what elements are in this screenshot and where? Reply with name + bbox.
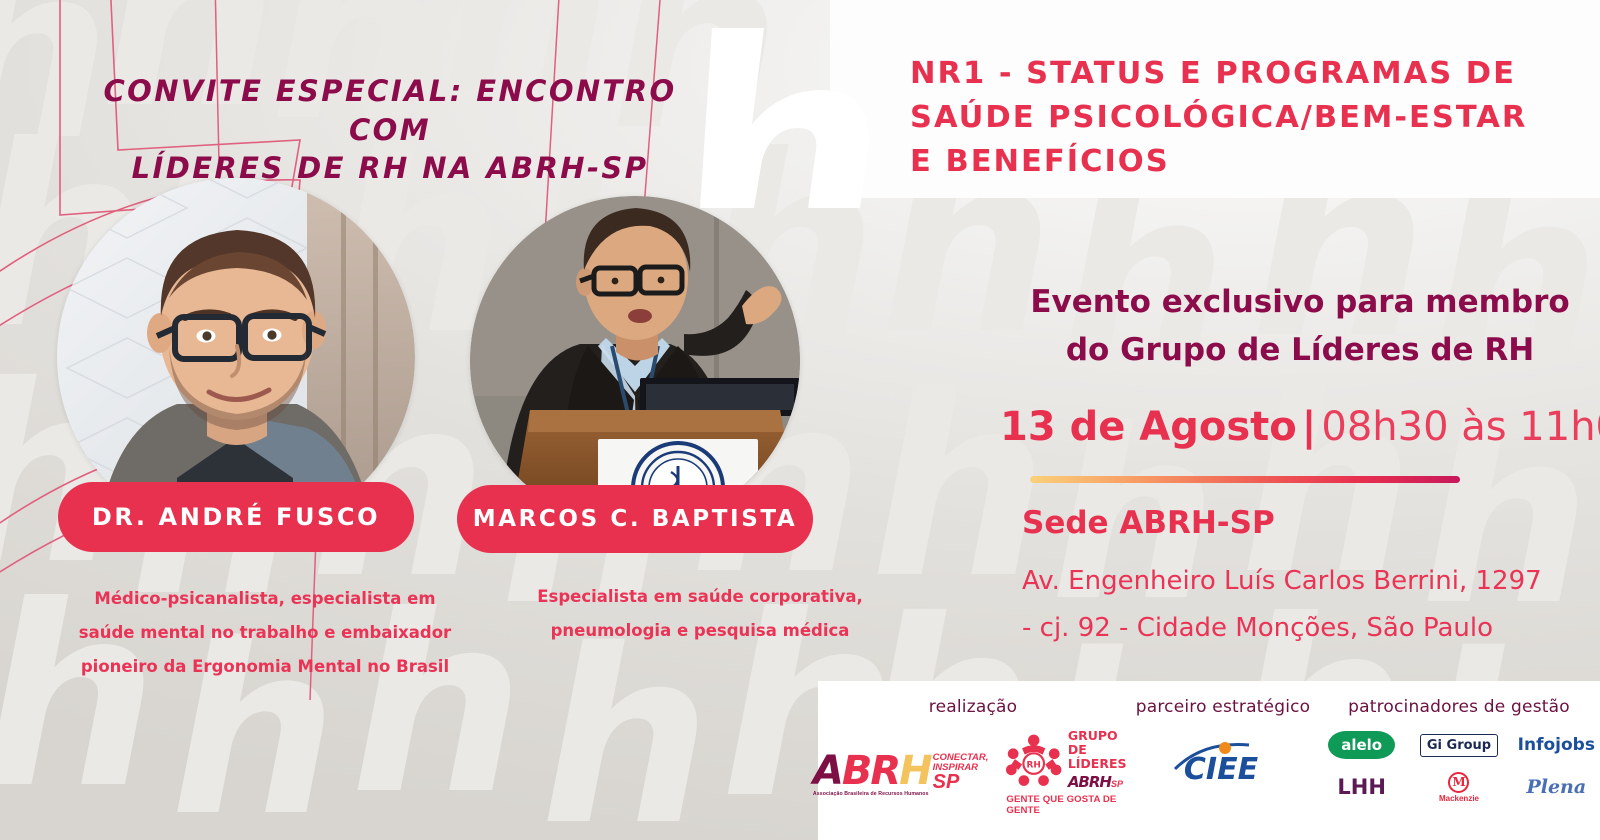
speaker-2-name: MARCOS C. BAPTISTA: [473, 506, 798, 532]
grupo-lideres-logo: RH GRUPO DE LÍDERES ABRH SP GENTE QUE GO…: [1006, 729, 1133, 816]
people-circle-icon: RH: [1006, 731, 1061, 789]
venue-address: Av. Engenheiro Luís Carlos Berrini, 1297…: [1000, 558, 1600, 653]
abrh-letter-r: R: [870, 748, 899, 794]
speaker-2-bio-line1: Especialista em saúde corporativa,: [460, 580, 940, 614]
exclusive-note-line1: Evento exclusivo para membro: [1000, 278, 1600, 326]
ciee-wordmark: CIEE: [1184, 752, 1259, 785]
speaker-1-bio-line3: pioneiro da Ergonomia Mental no Brasil: [30, 650, 500, 684]
abrh-letter-h: H: [899, 748, 930, 794]
venue-name: Sede ABRH-SP: [1000, 505, 1600, 541]
sponsor-footer: realização A B R H CONECTAR, INSPIRAR SP…: [818, 681, 1600, 840]
venue-address-line1: Av. Engenheiro Luís Carlos Berrini, 1297: [1022, 558, 1600, 605]
sponsor-logo-grid: alelo Gi Group Infojobs LHH M Mackenzie …: [1318, 727, 1600, 805]
page-title-line2: SAÚDE PSICOLÓGICA/BEM-ESTAR: [910, 96, 1600, 140]
sponsor-logo-mackenzie: M Mackenzie: [1439, 769, 1479, 805]
exclusive-note-line2: do Grupo de Líderes de RH: [1000, 326, 1600, 374]
datetime-separator: |: [1302, 404, 1317, 450]
abrh-letter-b: B: [842, 748, 871, 794]
speaker-1-bio-line1: Médico-psicanalista, especialista em: [30, 582, 500, 616]
grupo-lideres-line1: GRUPO DE: [1068, 729, 1133, 757]
event-date: 13 de Agosto: [1000, 404, 1297, 450]
abrh-logo: A B R H CONECTAR, INSPIRAR SP Associação…: [813, 748, 989, 797]
grupo-lideres-tagline: GENTE QUE GOSTA DE GENTE: [1006, 794, 1133, 816]
grupo-lideres-abrh: ABRH: [1068, 773, 1111, 791]
speaker-2-name-badge: MARCOS C. BAPTISTA: [457, 485, 813, 553]
abrh-tagline: CONECTAR, INSPIRAR SP: [933, 748, 989, 794]
footer-label-parceiro: parceiro estratégico: [1128, 697, 1318, 717]
sponsor-logo-plena: Plena: [1526, 769, 1586, 805]
svg-text:RH: RH: [1027, 761, 1041, 771]
speaker-2-bio: Especialista em saúde corporativa, pneum…: [460, 580, 940, 648]
speaker-1-name-badge: DR. ANDRÉ FUSCO: [58, 482, 414, 552]
sponsor-logo-gigroup: Gi Group: [1420, 727, 1498, 763]
ciee-swoosh-icon: CIEE: [1163, 739, 1283, 785]
speaker-2-bio-line2: pneumologia e pesquisa médica: [460, 614, 940, 648]
page-title-line3: E BENEFÍCIOS: [910, 140, 1600, 184]
footer-col-patrocinadores: patrocinadores de gestão alelo Gi Group …: [1318, 697, 1600, 840]
mackenzie-m-mark: M: [1448, 772, 1469, 793]
footer-label-realizacao: realização: [818, 697, 1128, 717]
speaker-1-bio-line2: saúde mental no trabalho e embaixador: [30, 616, 500, 650]
sponsor-logo-infojobs: Infojobs: [1518, 727, 1595, 763]
sponsor-logo-alelo: alelo: [1328, 727, 1395, 763]
grupo-lideres-line2: LÍDERES: [1068, 757, 1127, 771]
event-time: 08h30 às 11h00: [1321, 404, 1600, 450]
gradient-divider: [1030, 476, 1460, 483]
page-title: NR1 - STATUS E PROGRAMAS DE SAÚDE PSICOL…: [910, 52, 1600, 184]
venue-address-line2: - cj. 92 - Cidade Monções, São Paulo: [1022, 605, 1600, 652]
abrh-sp: SP: [933, 772, 989, 794]
speaker-1-name: DR. ANDRÉ FUSCO: [92, 503, 380, 531]
footer-col-realizacao: realização A B R H CONECTAR, INSPIRAR SP…: [818, 697, 1128, 840]
sponsor-logo-lhh: LHH: [1337, 769, 1386, 805]
ciee-logo: CIEE: [1163, 739, 1283, 785]
page-title-line1: NR1 - STATUS E PROGRAMAS DE: [910, 52, 1600, 96]
footer-label-patrocinadores: patrocinadores de gestão: [1318, 697, 1600, 717]
grupo-lideres-abrh-sp: SP: [1111, 779, 1123, 789]
footer-col-parceiro: parceiro estratégico CIEE: [1128, 697, 1318, 840]
speaker-2-photo: ACOEM: [470, 196, 800, 526]
speaker-card-2: ACOEM MARCOS C. BAPTISTA Especialista em…: [0, 0, 330, 330]
event-datetime: 13 de Agosto|08h30 às 11h00: [1000, 405, 1600, 449]
speaker-1-bio: Médico-psicanalista, especialista em saú…: [30, 582, 500, 683]
abrh-letter-a: A: [813, 748, 842, 794]
exclusive-note: Evento exclusivo para membro do Grupo de…: [1000, 278, 1600, 375]
